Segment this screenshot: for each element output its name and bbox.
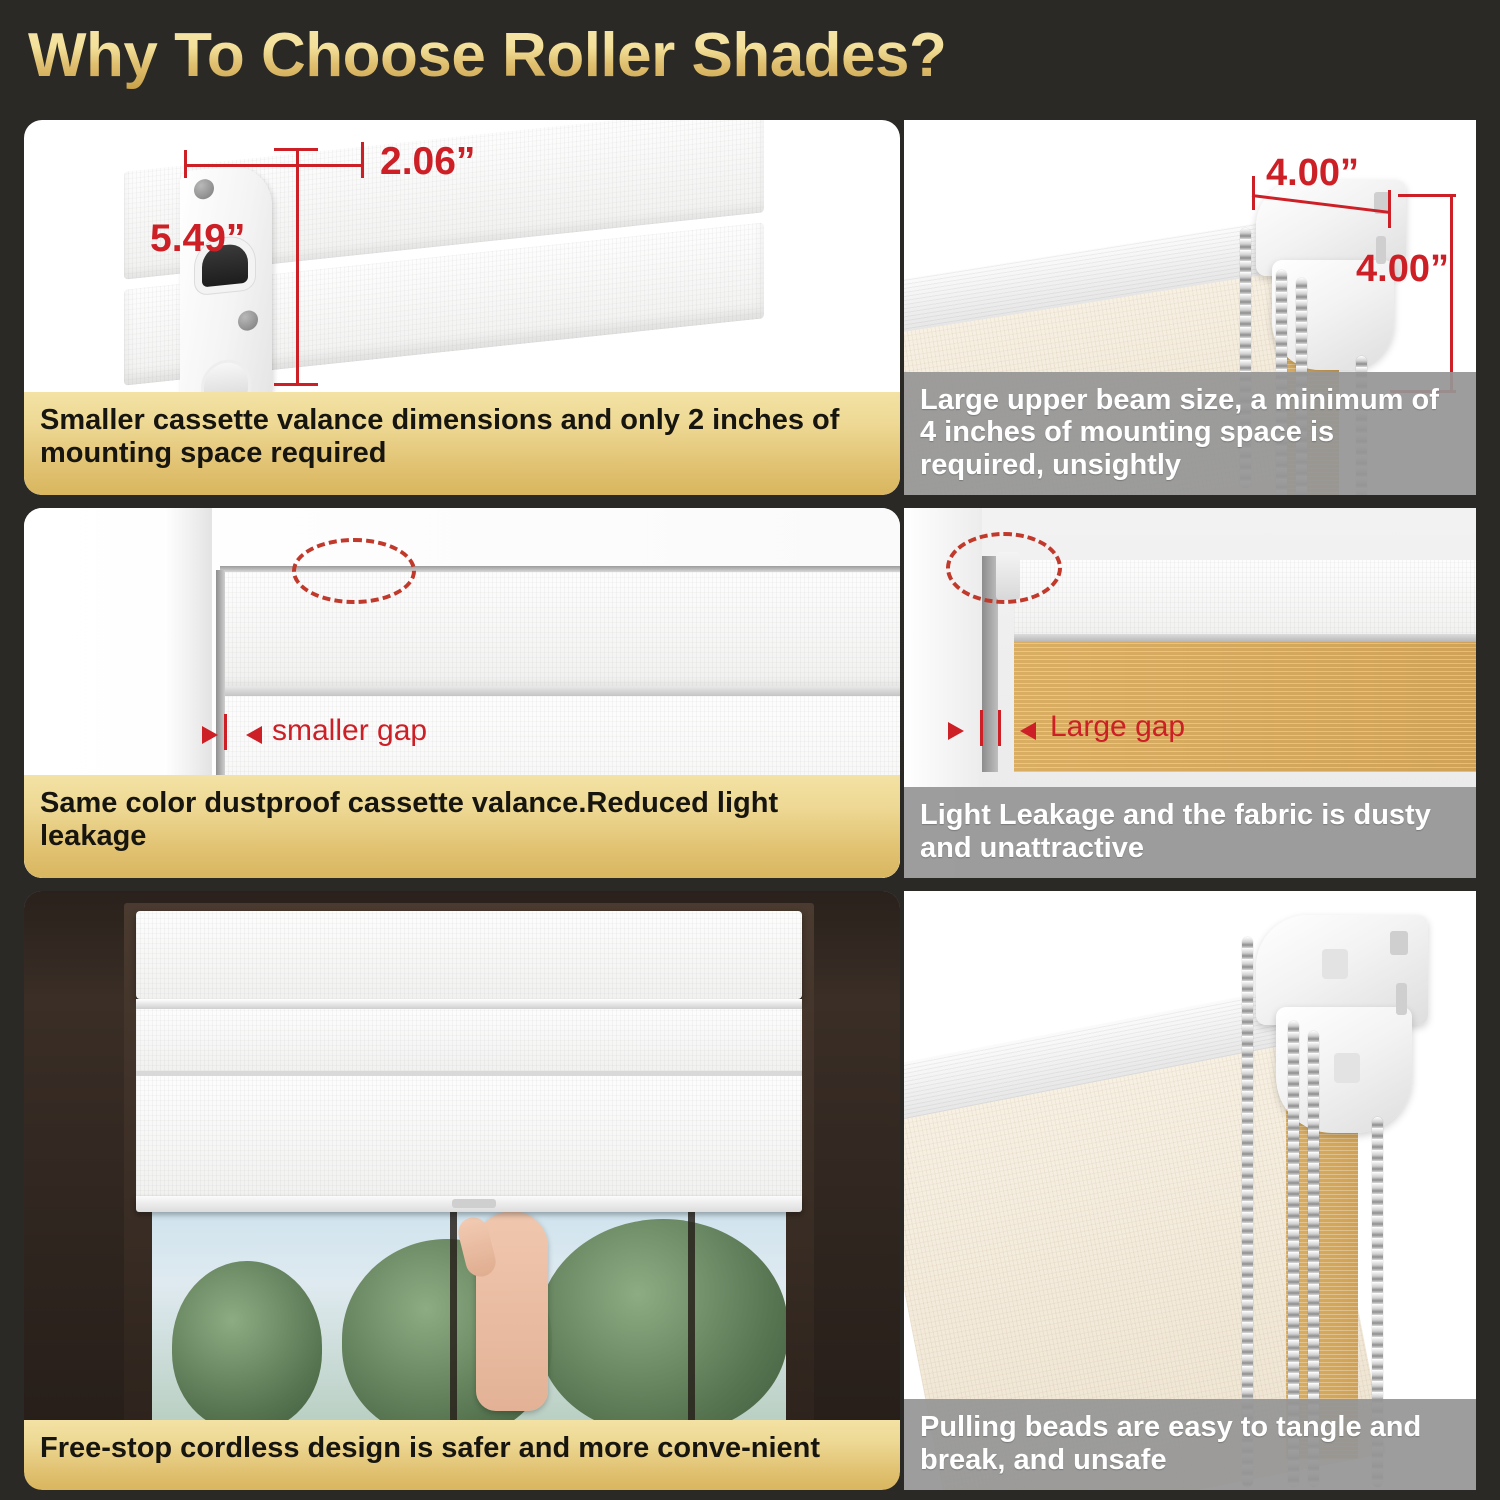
panel-caption: Large upper beam size, a minimum of 4 in… bbox=[904, 372, 1476, 495]
panel-caption: Smaller cassette valance dimensions and … bbox=[24, 392, 900, 495]
tree-foliage bbox=[172, 1261, 322, 1424]
valance-lip bbox=[136, 999, 802, 1009]
bracket-notch bbox=[1396, 983, 1407, 1015]
width-dimension-tick bbox=[184, 150, 187, 178]
panel-smaller-gap: smaller gap Same color dustproof cassett… bbox=[24, 508, 900, 878]
gap-tick bbox=[980, 710, 983, 746]
width-dimension-tick bbox=[1252, 176, 1255, 210]
gap-arrow-right-icon bbox=[202, 726, 218, 744]
width-dimension-line bbox=[184, 164, 364, 167]
gap-arrow-right-icon bbox=[948, 722, 964, 740]
hand-pulling-shade bbox=[476, 1211, 548, 1411]
width-dimension-label: 2.06” bbox=[380, 140, 475, 184]
height-dimension-tick bbox=[1398, 194, 1456, 197]
width-dimension-tick bbox=[1388, 190, 1391, 228]
roller-tube bbox=[1014, 560, 1476, 638]
bracket-notch bbox=[1390, 931, 1408, 955]
gap-tick bbox=[224, 714, 227, 750]
panel-large-gap: Large gap Light Leakage and the fabric i… bbox=[904, 508, 1476, 878]
window-mullion bbox=[450, 1209, 457, 1424]
shade-assembly bbox=[136, 911, 802, 1211]
height-dimension-tick bbox=[274, 148, 318, 151]
product-photo-room-window bbox=[24, 891, 900, 1490]
window-mullion bbox=[688, 1209, 695, 1424]
screw-icon bbox=[238, 310, 258, 332]
gap-arrow-left-icon bbox=[246, 726, 262, 744]
height-dimension-line bbox=[296, 148, 299, 386]
panel-caption: Free-stop cordless design is safer and m… bbox=[24, 1420, 900, 1490]
gap-callout-label: Large gap bbox=[1050, 710, 1185, 744]
screw-icon bbox=[194, 178, 214, 200]
panel-caption: Same color dustproof cassette valance.Re… bbox=[24, 775, 900, 878]
shade-fabric-tan bbox=[1014, 642, 1476, 772]
bottom-rail-grip bbox=[452, 1199, 496, 1208]
gap-arrow-left-icon bbox=[1020, 722, 1036, 740]
tree-foliage bbox=[538, 1219, 786, 1424]
width-dimension-label: 4.00” bbox=[1266, 152, 1359, 195]
gap-callout-label: smaller gap bbox=[272, 714, 427, 748]
tube-edge bbox=[1014, 634, 1476, 642]
panel-cordless-design: Free-stop cordless design is safer and m… bbox=[24, 891, 900, 1490]
bracket-logo-icon bbox=[1322, 949, 1348, 979]
highlight-circle-icon bbox=[946, 532, 1062, 604]
valance-lip bbox=[220, 686, 900, 696]
header-bar: Why To Choose Roller Shades? bbox=[0, 0, 1500, 110]
panel-caption: Light Leakage and the fabric is dusty an… bbox=[904, 787, 1476, 878]
panel-pulling-beads: Pulling beads are easy to tangle and bre… bbox=[904, 891, 1476, 1490]
height-dimension-label: 4.00” bbox=[1356, 248, 1449, 291]
panel-cassette-dimensions: 2.06” 5.49” Smaller cassette valance dim… bbox=[24, 120, 900, 495]
page-title: Why To Choose Roller Shades? bbox=[28, 20, 946, 91]
shade-fabric-lower bbox=[136, 1076, 802, 1196]
panel-large-upper-beam: 4.00” 4.00” Large upper beam size, a min… bbox=[904, 120, 1476, 495]
width-dimension-tick bbox=[361, 142, 364, 178]
shade-fabric-upper bbox=[136, 1009, 802, 1071]
comparison-grid: 2.06” 5.49” Smaller cassette valance dim… bbox=[0, 110, 1500, 1500]
panel-caption: Pulling beads are easy to tangle and bre… bbox=[904, 1399, 1476, 1490]
height-dimension-tick bbox=[274, 383, 318, 386]
gap-tick bbox=[998, 710, 1001, 746]
bracket-logo-icon bbox=[1334, 1053, 1360, 1083]
height-dimension-line bbox=[1450, 194, 1453, 392]
cassette-valance bbox=[136, 911, 802, 999]
height-dimension-label: 5.49” bbox=[150, 217, 245, 261]
highlight-circle-icon bbox=[292, 538, 416, 604]
